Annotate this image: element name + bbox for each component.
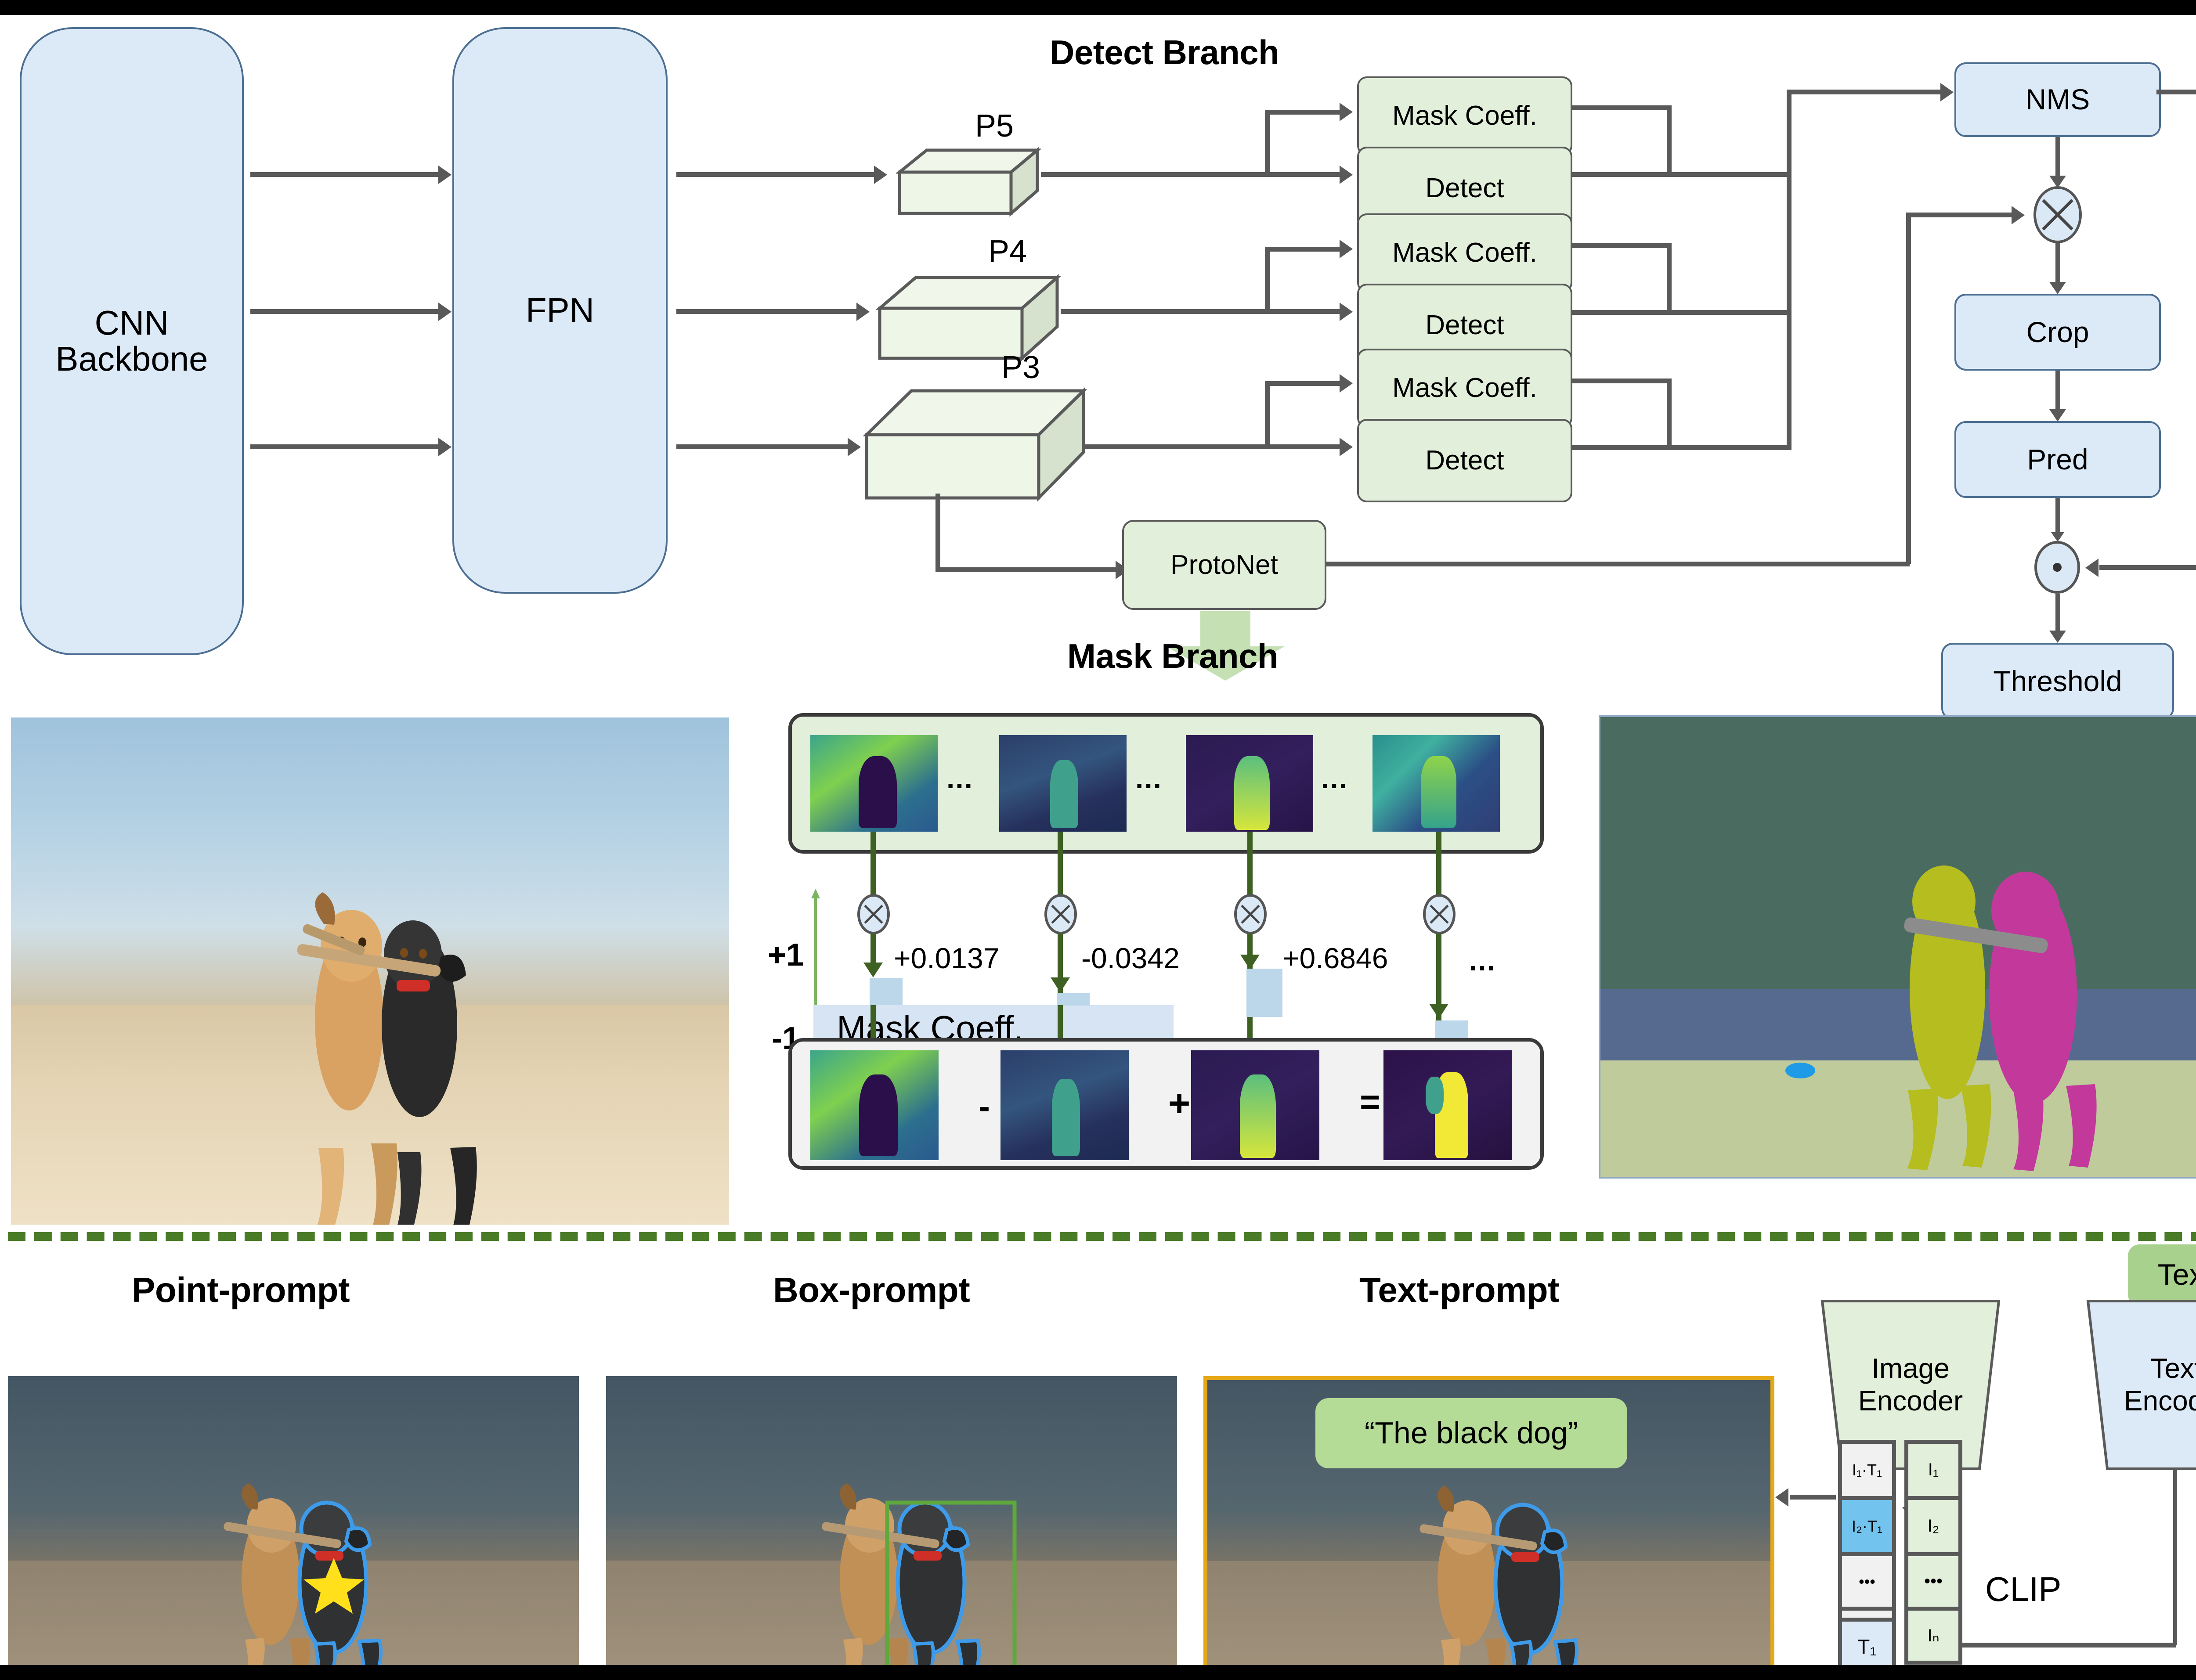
clip-img-cell-1-label: I₂: [1928, 1516, 1940, 1536]
p5-feature-map: [896, 147, 1041, 217]
coeff-value-2: -0.0342: [1081, 941, 1180, 975]
box-prompt-image: [606, 1376, 1177, 1680]
arrow-pred-dot: [2051, 532, 2064, 542]
clip-image-column: I₁ I₂ ••• Iₙ: [1904, 1440, 1962, 1665]
fpn-block: FPN: [452, 27, 668, 594]
multiply-icon-2: [1044, 894, 1077, 934]
arrow-to-nms: [1940, 83, 1954, 101]
arrow-p5-detect: [1340, 166, 1353, 184]
clip-img-cell-2-label: •••: [1924, 1572, 1943, 1591]
proto3-down-line: [1247, 832, 1253, 900]
prototype-mask-4: [1372, 735, 1500, 832]
detect-head-p4-label: Detect: [1425, 311, 1504, 339]
coeff1-arrow: [863, 963, 883, 977]
multiply-icon-3: [1234, 894, 1267, 934]
clip-img-cell-1: I₂: [1908, 1500, 1958, 1556]
text-encoder-label-line2: Encoder: [2124, 1385, 2196, 1417]
text-encoder-block: Text Encoder: [2073, 1299, 2196, 1471]
clip-label: CLIP: [1985, 1569, 2061, 1609]
connector-bus-to-nms: [1787, 90, 1945, 94]
arrow-p4-maskcoeff: [1340, 240, 1353, 258]
riser-p5-maskcoeff: [1265, 110, 1270, 176]
coeff-bar-3: [1246, 969, 1282, 1017]
detect-head-p3-label: Detect: [1425, 446, 1504, 475]
multiply-icon-1: [857, 894, 890, 934]
clip-sim-cell-1-label: I₂·T₁: [1852, 1517, 1882, 1536]
prototype-ellipsis-1: ...: [946, 761, 973, 795]
arrow-mul-crop: [2049, 282, 2066, 294]
arrow-cnn-fpn-2: [438, 303, 451, 321]
arrow-fpn-p3: [848, 438, 861, 456]
connector-cnn-fpn-1: [250, 172, 439, 177]
connector-clip-to-result: [1790, 1495, 1836, 1500]
mask-branch-title: Mask Branch: [1067, 636, 1278, 676]
protonet-block: ProtoNet: [1122, 520, 1326, 610]
p3-feature-map: [863, 387, 1087, 501]
prototype-mask-3: [1186, 735, 1313, 832]
cnn-backbone-block: CNN Backbone: [20, 27, 244, 655]
composition-result-mask: [1383, 1050, 1512, 1160]
figure-canvas: Detect Branch CNN Backbone FPN P5 P4: [0, 0, 2196, 1680]
connector-protonet-out: [1326, 562, 1910, 566]
connector-cnn-fpn-2: [250, 309, 439, 314]
coeff-bar-1: [870, 978, 903, 1005]
coeff3-arrow: [1240, 955, 1260, 970]
clip-img-cell-3-label: Iₙ: [1927, 1626, 1939, 1646]
bus-mc-p4: [1667, 243, 1672, 314]
mask-coeff-head-p4-label: Mask Coeff.: [1392, 238, 1537, 267]
mask-coeff-head-p3: Mask Coeff.: [1357, 349, 1572, 428]
connector-mc-p3-out: [1571, 379, 1670, 383]
point-prompt-title: Point-prompt: [132, 1270, 350, 1310]
coeff2-arrow: [1051, 977, 1070, 992]
prototype-mask-2: [999, 735, 1127, 832]
coeff-value-4: ...: [1469, 944, 1496, 977]
composition-mask-1: [810, 1050, 939, 1160]
composition-operator-minus: -: [979, 1086, 990, 1126]
connector-p4-maskcoeff: [1265, 247, 1344, 252]
text-prompt-caption: “The black dog”: [1365, 1417, 1578, 1449]
protonet-label: ProtoNet: [1170, 551, 1278, 579]
crop-label: Crop: [2026, 317, 2089, 347]
clip-img-cell-0: I₁: [1908, 1444, 1958, 1500]
p4-feature-map: [876, 274, 1061, 362]
connector-txtenc-down: [2173, 1470, 2177, 1645]
connector-nms-mul: [2055, 137, 2060, 181]
bp-dogs: [606, 1376, 1177, 1680]
clip-img-cell-2: •••: [1908, 1556, 1958, 1611]
detect-head-p5-label: Detect: [1425, 174, 1504, 202]
crop-block: Crop: [1954, 294, 2161, 371]
arrow-dot-threshold: [2049, 631, 2066, 643]
arrow-p3-detect: [1340, 438, 1353, 456]
connector-mc-p5-out: [1571, 105, 1670, 110]
clip-text-cell-label: T₁: [1857, 1635, 1877, 1658]
point-prompt-image: [8, 1376, 579, 1680]
coeff-value-1: +0.0137: [894, 941, 999, 975]
threshold-block: Threshold: [1941, 643, 2174, 720]
connector-p5-maskcoeff: [1265, 110, 1344, 115]
p4-label: P4: [988, 234, 1027, 270]
clip-sim-cell-1: I₂·T₁: [1842, 1500, 1892, 1556]
composition-operator-equals: =: [1360, 1082, 1380, 1122]
cnn-backbone-label-line2: Backbone: [56, 341, 208, 377]
pred-block: Pred: [1954, 421, 2161, 498]
composition-operator-plus: +: [1168, 1082, 1190, 1125]
connector-nms-feedback-top: [2156, 90, 2196, 94]
connector-fpn-p4: [676, 309, 861, 314]
arrow-p4-detect: [1340, 303, 1353, 321]
arrow-cnn-fpn-1: [438, 166, 451, 184]
pp-dogs: [8, 1376, 579, 1680]
nms-block: NMS: [1954, 62, 2161, 137]
riser-p3-maskcoeff: [1265, 381, 1270, 448]
arrow-clip-to-result: [1775, 1488, 1788, 1507]
text-prompt-caption-bubble: “The black dog”: [1315, 1398, 1627, 1468]
connector-p3-head: [1085, 444, 1344, 449]
connector-p5-head: [1041, 172, 1344, 177]
source-image: [11, 717, 729, 1225]
coeff-axis-arrow: [810, 889, 821, 1025]
clip-img-cell-0-label: I₁: [1928, 1460, 1939, 1480]
pred-label: Pred: [2027, 444, 2088, 475]
connector-fpn-p5: [676, 172, 878, 177]
arrow-feedback-dot: [2085, 559, 2098, 577]
riser-p4-maskcoeff: [1265, 247, 1270, 313]
mask-coeff-head-p5-label: Mask Coeff.: [1392, 101, 1537, 130]
coeff-bar-2: [1057, 993, 1090, 1006]
nms-label: NMS: [2026, 84, 2090, 115]
arrow-fpn-p4: [856, 303, 870, 321]
mask-coeff-head-p3-label: Mask Coeff.: [1392, 374, 1537, 402]
connector-det-p5-out: [1571, 172, 1791, 177]
axis-plus-one-label: +1: [768, 937, 804, 973]
p3-label: P3: [1001, 350, 1040, 386]
connector-p4-head: [1061, 309, 1344, 314]
connector-p3-maskcoeff: [1265, 381, 1344, 386]
connector-p3-protonet: [935, 567, 1120, 572]
arrow-p3-maskcoeff: [1340, 374, 1353, 393]
clip-img-cell-3: Iₙ: [1908, 1611, 1958, 1661]
clip-text-cell: T₁: [1838, 1618, 1896, 1676]
connector-nms-feedback-bottom: [2099, 565, 2196, 570]
composition-mask-3: [1191, 1050, 1319, 1160]
arrow-cnn-fpn-3: [438, 438, 451, 456]
riser-p3-protonet: [935, 494, 940, 570]
proto4-down-line: [1436, 832, 1441, 900]
clip-sim-cell-0-label: I₁·T₁: [1852, 1461, 1882, 1479]
prototype-mask-1: [810, 735, 938, 832]
coeff4-arrow: [1429, 1004, 1448, 1019]
text-input-badge: Text: [2128, 1244, 2196, 1306]
detect-branch-title: Detect Branch: [1050, 32, 1279, 72]
proto2-down-line: [1058, 832, 1063, 900]
threshold-label: Threshold: [1993, 666, 2122, 696]
cnn-backbone-label-line1: CNN: [95, 305, 169, 341]
prototype-ellipsis-2: ...: [1135, 761, 1162, 795]
source-image-dogs: [11, 717, 729, 1225]
clip-sim-cell-2-label: •••: [1859, 1572, 1875, 1591]
connector-cnn-fpn-3: [250, 444, 439, 449]
arrow-protonet-mul: [2012, 206, 2025, 224]
riser-protonet-mul: [1906, 213, 1911, 564]
connector-protonet-mul: [1906, 213, 2016, 217]
clip-sim-cell-2: •••: [1842, 1556, 1892, 1611]
box-prompt-title: Box-prompt: [773, 1270, 970, 1310]
text-prompt-title: Text-prompt: [1359, 1270, 1559, 1310]
bus-mc-p5: [1667, 105, 1672, 176]
composition-mask-2: [1000, 1050, 1129, 1160]
arrow-fpn-p5: [874, 166, 887, 184]
detect-head-p3: Detect: [1357, 419, 1572, 502]
circle-times-icon: [2033, 186, 2082, 243]
arrow-crop-pred: [2049, 409, 2066, 422]
connector-fpn-p3: [676, 444, 852, 449]
connector-det-p3-out: [1571, 445, 1791, 450]
detect-collector-bus: [1787, 90, 1791, 450]
fpn-label: FPN: [526, 292, 594, 328]
text-input-badge-label: Text: [2158, 1259, 2196, 1291]
connector-txtenc-left: [1937, 1643, 2176, 1648]
segmentation-result-image: [1599, 715, 2196, 1179]
arrow-p5-maskcoeff: [1340, 103, 1353, 121]
connector-det-p4-out: [1571, 310, 1791, 315]
mask-coeff-head-p4: Mask Coeff.: [1357, 213, 1572, 292]
coeff-value-3: +0.6846: [1282, 941, 1388, 975]
bus-mc-p3: [1667, 379, 1672, 449]
connector-mc-p4-out: [1571, 243, 1670, 248]
section-divider: [8, 1232, 2196, 1241]
multiply-icon-4: [1423, 894, 1456, 934]
result-masks: [1600, 717, 2196, 1179]
image-encoder-label-line1: Image: [1871, 1352, 1950, 1385]
circle-dot-icon: [2034, 541, 2080, 594]
text-encoder-label-line1: Text: [2150, 1352, 2196, 1385]
prototype-ellipsis-3: ...: [1321, 761, 1348, 795]
p5-label: P5: [975, 108, 1014, 144]
image-encoder-label-line2: Encoder: [1858, 1385, 1963, 1417]
clip-sim-cell-0: I₁·T₁: [1842, 1444, 1892, 1500]
proto1-down-line: [870, 832, 876, 900]
mask-coeff-head-p5: Mask Coeff.: [1357, 76, 1572, 155]
